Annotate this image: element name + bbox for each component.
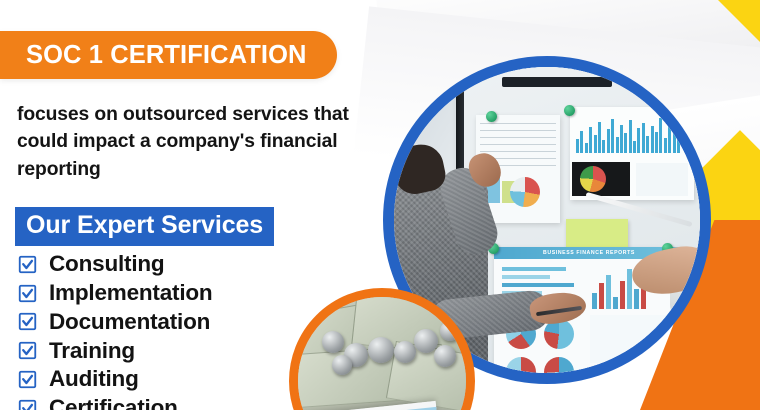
list-item-label: Training: [49, 340, 135, 363]
clipped-top-headline: Independent, Reliable & Trusted Reportin…: [0, 0, 760, 5]
trend-line-chart: [590, 315, 676, 363]
list-item-label: Documentation: [49, 311, 210, 334]
services-list: Consulting Implementation Documentation: [18, 250, 358, 410]
soc1-certification-badge: SOC 1 CERTIFICATION: [0, 31, 337, 79]
list-item: Auditing: [18, 365, 358, 394]
table-line: [480, 123, 556, 124]
list-item-label: Certification: [49, 397, 178, 410]
soc1-badge-label: SOC 1 CERTIFICATION: [26, 41, 307, 70]
checkbox-checked-icon: [18, 284, 37, 303]
yellow-triangle-icon: [718, 0, 760, 42]
whiteboard-top-rail: [502, 77, 612, 87]
pie-chart-colorful: [580, 166, 606, 192]
coin: [440, 321, 460, 341]
pie-chart-small: [510, 177, 540, 207]
bar-chart: [576, 117, 688, 153]
list-item: Consulting: [18, 250, 358, 279]
table-line: [480, 137, 556, 138]
content-column: SOC 1 CERTIFICATION focuses on outsource…: [0, 0, 400, 410]
list-item: Documentation: [18, 308, 358, 337]
magnet-pin-icon: [564, 105, 575, 116]
list-item: Implementation: [18, 279, 358, 308]
checkbox-checked-icon: [18, 341, 37, 360]
hbar: [502, 267, 566, 271]
magnet-pin-icon: [486, 111, 497, 122]
table-line: [480, 130, 556, 131]
services-heading-label: Our Expert Services: [26, 211, 263, 239]
services-heading-banner: Our Expert Services: [15, 207, 274, 246]
checkbox-checked-icon: [18, 370, 37, 389]
list-item-label: Auditing: [49, 368, 139, 391]
list-item-label: Implementation: [49, 282, 212, 305]
checkbox-checked-icon: [18, 399, 37, 410]
checkbox-checked-icon: [18, 255, 37, 274]
coin: [414, 329, 438, 353]
description-paragraph: focuses on outsourced services that coul…: [17, 101, 377, 183]
hbar: [502, 275, 550, 279]
coin: [434, 345, 456, 367]
line-chart-panel: [636, 163, 688, 196]
checkbox-checked-icon: [18, 312, 37, 331]
list-item: Certification: [18, 394, 358, 410]
hbar: [502, 283, 574, 287]
list-item-label: Consulting: [49, 253, 164, 276]
list-item: Training: [18, 336, 358, 365]
